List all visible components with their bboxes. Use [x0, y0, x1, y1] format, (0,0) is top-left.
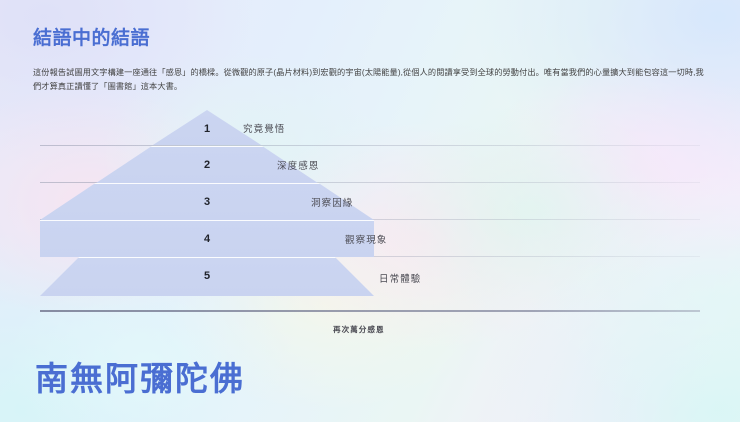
mantra-text: 南無阿彌陀佛 — [35, 352, 245, 400]
divider-line-3 — [40, 219, 700, 220]
pyramid-level-2-label: 深度感恩 — [277, 158, 319, 172]
divider-line-2 — [40, 182, 700, 183]
footer-note: 再次萬分感恩 — [333, 324, 740, 335]
pyramid-level-4[interactable] — [40, 220, 374, 257]
pyramid-level-1-label: 究竟覺悟 — [243, 121, 285, 135]
slide-canvas: 結語中的結語 這份報告試圖用文字構建一座通往「感恩」的橋樑。從微觀的原子(晶片材… — [0, 0, 740, 422]
pyramid-level-4-fill-helper — [40, 220, 374, 256]
pyramid-level-5-number: 5 — [195, 270, 219, 282]
pyramid-level-2-number: 2 — [195, 159, 219, 171]
divider-line-1 — [40, 145, 700, 146]
pyramid-level-1-number: 1 — [195, 123, 219, 135]
pyramid-level-4-label: 觀察現象 — [345, 232, 387, 246]
pyramid-level-5[interactable] — [40, 257, 374, 296]
pyramid-level-5-label: 日常體驗 — [379, 271, 421, 285]
pyramid-level-3[interactable] — [40, 183, 374, 220]
pyramid-level-4-number: 4 — [195, 233, 219, 245]
pyramid-level-1[interactable] — [40, 110, 374, 145]
intro-paragraph: 這份報告試圖用文字構建一座通往「感恩」的橋樑。從微觀的原子(晶片材料)到宏觀的宇… — [33, 66, 709, 95]
page-title: 結語中的結語 — [33, 23, 150, 50]
pyramid-level-2[interactable] — [40, 146, 374, 183]
pyramid-level-3-label: 洞察因緣 — [311, 195, 353, 209]
pyramid-level-3-number: 3 — [195, 196, 219, 208]
divider-line-base — [40, 310, 700, 312]
divider-line-4 — [40, 256, 700, 257]
